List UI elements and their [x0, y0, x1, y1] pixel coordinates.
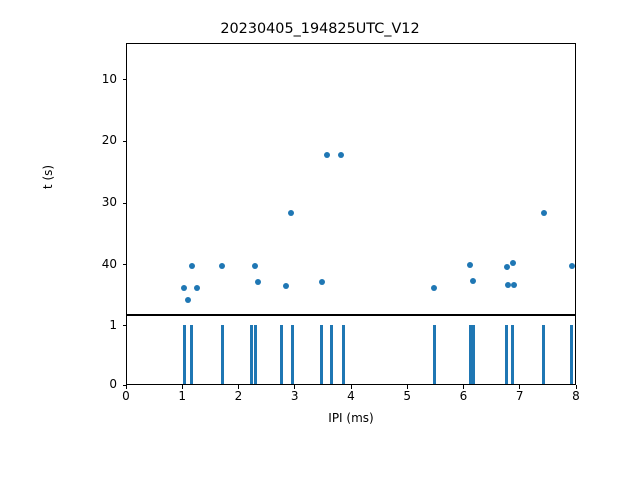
- figure-title: 20230405_194825UTC_V12: [0, 21, 640, 37]
- scatter-panel-axes: [126, 43, 576, 315]
- scatter-point: [511, 282, 517, 288]
- rug-stem: [320, 325, 323, 384]
- rug-stem: [190, 325, 193, 384]
- scatter-point: [569, 263, 575, 269]
- scatter-point: [470, 278, 476, 284]
- rug-stem: [505, 325, 508, 384]
- scatter-point: [219, 263, 225, 269]
- y-axis-tick-label: 30: [77, 195, 117, 209]
- scatter-point: [255, 279, 261, 285]
- x-axis-tick: [351, 385, 352, 389]
- x-axis-tick-label: 1: [162, 389, 202, 403]
- x-axis-tick: [238, 385, 239, 389]
- scatter-point: [510, 260, 516, 266]
- y-axis-tick: [123, 79, 127, 80]
- y-axis-tick: [123, 141, 127, 142]
- x-axis-tick-label: 3: [275, 389, 315, 403]
- scatter-point: [467, 262, 473, 268]
- rug-stem: [250, 325, 253, 384]
- rug-stem: [291, 325, 294, 384]
- x-axis-tick: [182, 385, 183, 389]
- x-axis-tick: [576, 385, 577, 389]
- rug-panel-axes: [126, 315, 576, 385]
- y-axis-tick: [123, 203, 127, 204]
- rug-stem: [472, 325, 475, 384]
- rug-y-axis-tick: [123, 385, 127, 386]
- scatter-point: [338, 152, 344, 158]
- x-axis-tick-label: 7: [500, 389, 540, 403]
- rug-stem: [254, 325, 257, 384]
- x-axis-tick: [519, 385, 520, 389]
- y-axis-tick-label: 10: [77, 72, 117, 86]
- scatter-point: [288, 210, 294, 216]
- scatter-point: [252, 263, 258, 269]
- rug-stem: [570, 325, 573, 384]
- scatter-point: [181, 285, 187, 291]
- y-axis-label: t (s): [41, 117, 55, 237]
- x-axis-tick: [294, 385, 295, 389]
- rug-y-axis-tick-label: 1: [77, 318, 117, 332]
- scatter-point: [283, 283, 289, 289]
- rug-stem: [511, 325, 514, 384]
- figure-canvas: 20230405_194825UTC_V12 t (s) IPI (ms) 01…: [0, 0, 640, 480]
- scatter-point: [504, 264, 510, 270]
- rug-stem: [433, 325, 436, 384]
- x-axis-tick-label: 5: [387, 389, 427, 403]
- rug-stem: [221, 325, 224, 384]
- scatter-point: [319, 279, 325, 285]
- scatter-point: [185, 297, 191, 303]
- scatter-point: [324, 152, 330, 158]
- rug-stem: [183, 325, 186, 384]
- rug-y-axis-tick: [123, 325, 127, 326]
- x-axis-label: IPI (ms): [126, 411, 576, 425]
- x-axis-tick-label: 2: [219, 389, 259, 403]
- y-axis-tick-label: 40: [77, 257, 117, 271]
- x-axis-tick: [407, 385, 408, 389]
- scatter-point: [431, 285, 437, 291]
- y-axis-tick: [123, 264, 127, 265]
- x-axis-tick-label: 0: [106, 389, 146, 403]
- y-axis-tick-label: 20: [77, 133, 117, 147]
- scatter-point: [189, 263, 195, 269]
- rug-stem: [542, 325, 545, 384]
- x-axis-tick-label: 6: [444, 389, 484, 403]
- rug-y-axis-tick-label: 0: [77, 377, 117, 391]
- scatter-point: [194, 285, 200, 291]
- rug-stem: [342, 325, 345, 384]
- x-axis-tick-label: 8: [556, 389, 596, 403]
- x-axis-tick-label: 4: [331, 389, 371, 403]
- rug-stem: [280, 325, 283, 384]
- rug-stem: [330, 325, 333, 384]
- scatter-point: [541, 210, 547, 216]
- x-axis-tick: [463, 385, 464, 389]
